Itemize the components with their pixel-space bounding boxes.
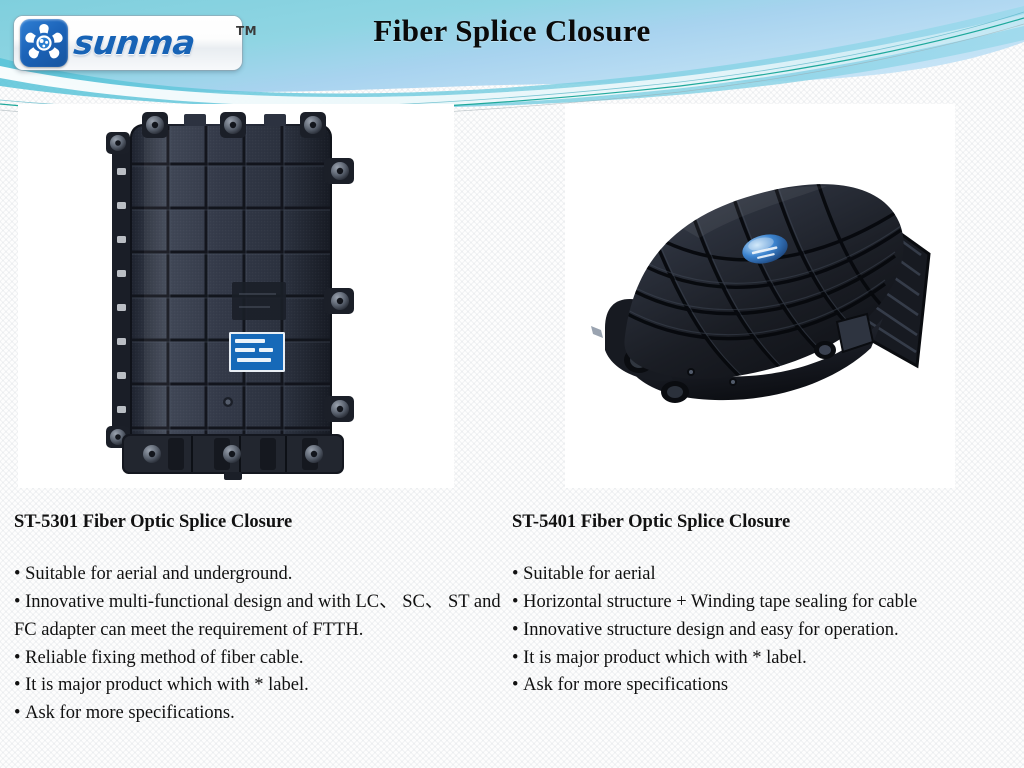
st-5401-product-photo xyxy=(565,104,955,488)
trademark-mark: TM xyxy=(236,24,257,38)
list-item: It is major product which with * label. xyxy=(14,672,512,700)
list-item: Innovative structure design and easy for… xyxy=(512,617,1010,645)
bolt-clamp xyxy=(142,112,168,138)
st-5301-product-photo xyxy=(18,104,454,488)
bolt-clamp xyxy=(305,445,323,463)
bolt-clamp xyxy=(324,288,354,314)
feature-list-st5401: Suitable for aerial Horizontal structure… xyxy=(512,561,1010,700)
bolt-clamp xyxy=(300,112,326,138)
list-item: Horizontal structure + Winding tape seal… xyxy=(512,589,1010,617)
product-title-st5301: ST-5301 Fiber Optic Splice Closure xyxy=(14,512,512,533)
product-column-left: ST-5301 Fiber Optic Splice Closure Suita… xyxy=(14,512,512,728)
logo-wordmark: sunma xyxy=(72,23,197,62)
slide-canvas: Fiber Splice Closure sunma TM xyxy=(0,0,1024,768)
list-item: Suitable for aerial and underground. xyxy=(14,561,512,589)
list-item: Ask for more specifications. xyxy=(14,700,512,728)
bolt-clamp xyxy=(223,445,241,463)
bolt-clamp xyxy=(324,396,354,422)
sunma-gear-emblem-icon xyxy=(20,19,68,67)
bolt-clamp xyxy=(220,112,246,138)
brand-logo[interactable]: sunma TM xyxy=(14,16,254,72)
product-title-st5401: ST-5401 Fiber Optic Splice Closure xyxy=(512,512,1010,533)
bolt-clamp xyxy=(143,445,161,463)
feature-list-st5301: Suitable for aerial and underground. Inn… xyxy=(14,561,512,728)
product-column-right: ST-5401 Fiber Optic Splice Closure Suita… xyxy=(512,512,1010,700)
list-item: Innovative multi-functional design and w… xyxy=(14,589,512,645)
list-item: Suitable for aerial xyxy=(512,561,1010,589)
list-item: Ask for more specifications xyxy=(512,672,1010,700)
bolt-clamp xyxy=(324,158,354,184)
list-item: It is major product which with * label. xyxy=(512,645,1010,673)
list-item: Reliable fixing method of fiber cable. xyxy=(14,645,512,673)
